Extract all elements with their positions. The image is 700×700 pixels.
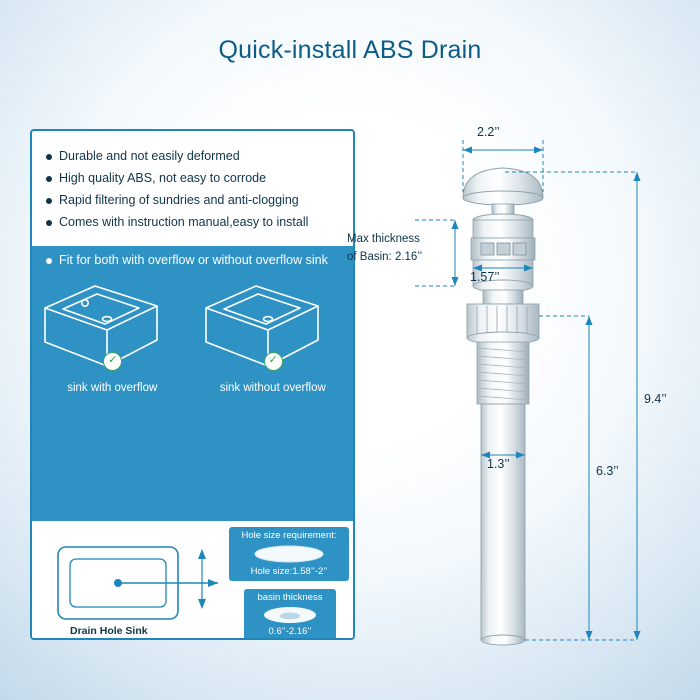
bullet-dot-icon bbox=[46, 176, 52, 182]
sink-caption: sink with overflow bbox=[37, 382, 187, 394]
drain-technical-drawing bbox=[355, 120, 695, 660]
basin-ellipse-icon bbox=[248, 605, 332, 625]
list-item: Durable and not easily deformed bbox=[32, 145, 353, 167]
sink-illustrations: ✓ sink with overflow ✓ sink bbox=[32, 280, 353, 394]
basin-thickness-title: basin thickness bbox=[244, 589, 336, 605]
feature-list: Durable and not easily deformed High qua… bbox=[32, 131, 353, 239]
overflow-section: Fit for both with overflow or without ov… bbox=[32, 246, 353, 521]
features-card: Durable and not easily deformed High qua… bbox=[30, 129, 355, 640]
feature-text: Durable and not easily deformed bbox=[59, 149, 240, 163]
hole-ellipse-icon bbox=[234, 543, 344, 565]
dim-max-thickness-line2: of Basin: 2.16’’ bbox=[347, 251, 422, 263]
feature-text: Rapid filtering of sundries and anti-clo… bbox=[59, 193, 299, 207]
bullet-dot-icon bbox=[46, 258, 52, 264]
feature-text: Comes with instruction manual,easy to in… bbox=[59, 215, 308, 229]
list-item: High quality ABS, not easy to corrode bbox=[32, 167, 353, 189]
hole-size-title: Hole size requirement: bbox=[229, 527, 349, 543]
dim-lower-height: 6.3’’ bbox=[596, 464, 619, 478]
hole-requirements-section: Drain Hole Sink Hole size requirement: H… bbox=[32, 521, 353, 640]
bullet-dot-icon bbox=[46, 198, 52, 204]
overflow-text: Fit for both with overflow or without ov… bbox=[59, 253, 328, 267]
sink-with-overflow-icon bbox=[37, 280, 167, 372]
page-title: Quick-install ABS Drain bbox=[0, 36, 700, 65]
sink-caption: sink without overflow bbox=[198, 382, 348, 394]
drain-drawing: 2.2’’ 1.57’’ Max thickness of Basin: 2.1… bbox=[355, 120, 695, 660]
basin-thickness-value: 0.6’’-2.16’’ bbox=[244, 625, 336, 640]
list-item: Comes with instruction manual,easy to in… bbox=[32, 211, 353, 233]
dim-max-thickness-line1: Max thickness bbox=[347, 233, 420, 245]
list-item: Fit for both with overflow or without ov… bbox=[32, 246, 353, 269]
list-item: Rapid filtering of sundries and anti-clo… bbox=[32, 189, 353, 211]
diagram-canvas: Quick-install ABS Drain Durable and not … bbox=[0, 0, 700, 700]
drain-body-shape bbox=[463, 168, 543, 645]
bullet-dot-icon bbox=[46, 154, 52, 160]
check-icon: ✓ bbox=[264, 352, 283, 371]
dim-cap-width: 2.2’’ bbox=[477, 125, 500, 139]
dim-flange-width: 1.57’’ bbox=[470, 270, 500, 284]
bullet-dot-icon bbox=[46, 220, 52, 226]
drain-hole-sink-label: Drain Hole Sink bbox=[70, 625, 148, 637]
basin-thickness-box: basin thickness 0.6’’-2.16’’ bbox=[244, 589, 336, 640]
sink-with-overflow: ✓ sink with overflow bbox=[37, 280, 187, 394]
sink-without-overflow-icon bbox=[198, 280, 328, 372]
sink-without-overflow: ✓ sink without overflow bbox=[198, 280, 348, 394]
dim-total-height: 9.4’’ bbox=[644, 392, 667, 406]
hole-size-box: Hole size requirement: Hole size:1.58’’-… bbox=[229, 527, 349, 581]
feature-text: High quality ABS, not easy to corrode bbox=[59, 171, 266, 185]
dim-body-width: 1.3’’ bbox=[487, 457, 510, 471]
hole-size-value: Hole size:1.58’’-2’’ bbox=[229, 565, 349, 581]
